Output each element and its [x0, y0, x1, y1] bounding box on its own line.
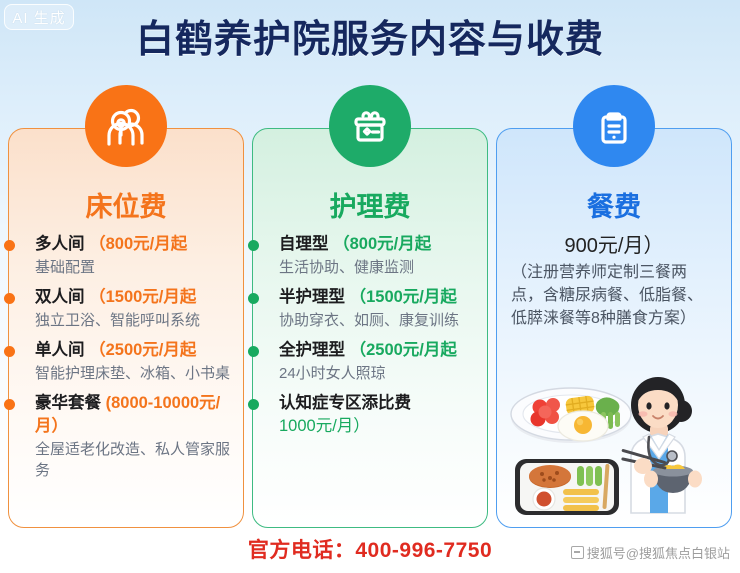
bed-fee-item-list: 多人间 （800元/月起 基础配置 双人间 （1500元/月起 独立卫浴、智能呼… — [21, 233, 231, 481]
watermark: 搜狐号@搜狐焦点白银站 — [571, 543, 730, 562]
item-heading: 自理型 （800元/月起 — [279, 233, 475, 256]
list-item: 自理型 （800元/月起 生活协助、健康监测 — [265, 233, 475, 278]
item-heading: 全护理型 （2500元/月起 — [279, 339, 475, 362]
list-item: 双人间 （1500元/月起 独立卫浴、智能呼叫系统 — [21, 286, 231, 331]
doctor-with-meals-illustration — [503, 371, 717, 521]
item-description: 协助穿衣、如厕、康复训练 — [279, 310, 475, 331]
item-name: 认知症专区添比费 — [279, 394, 411, 412]
meal-note: （注册营养师定制三餐两点，含糖尿病餐、低脂餐、低膵涞餐等8种膳食方案） — [509, 260, 719, 330]
list-item: 全护理型 （2500元/月起 24小时女人照琼 — [265, 339, 475, 384]
item-price: （1500元/月起 — [350, 288, 457, 306]
item-name: 半护理型 — [279, 288, 345, 306]
item-heading: 半护理型 （1500元/月起 — [279, 286, 475, 309]
care-fee-item-list: 自理型 （800元/月起 生活协助、健康监测 半护理型 （1500元/月起 协助… — [265, 233, 475, 437]
card-heading-meal-fee: 餐费 — [509, 191, 719, 223]
item-name: 双人间 — [35, 288, 85, 306]
meal-price: 900元/月） — [509, 233, 719, 260]
page-title: 白鹤养护院服务内容与收费 — [0, 16, 740, 64]
bullet-dot-icon — [4, 346, 15, 357]
item-name: 多人间 — [35, 235, 85, 253]
item-description: 全屋适老化改造、私人管家服务 — [35, 439, 231, 481]
item-price: （2500元/月起 — [350, 341, 457, 359]
item-description: 1000元/月） — [279, 416, 475, 437]
card-heading-care-fee: 护理费 — [265, 191, 475, 223]
item-price: （800元/月起 — [89, 235, 187, 253]
list-item: 豪华套餐 (8000-10000元/月） 全屋适老化改造、私人管家服务 — [21, 392, 231, 481]
list-item: 单人间 （2500元/月起 智能护理床垫、冰箱、小书桌 — [21, 339, 231, 384]
item-description: 独立卫浴、智能呼叫系统 — [35, 310, 231, 331]
bullet-dot-icon — [4, 399, 15, 410]
item-description: 智能护理床垫、冰箱、小书桌 — [35, 363, 231, 384]
bullet-dot-icon — [248, 399, 259, 410]
list-item: 认知症专区添比费 1000元/月） — [265, 392, 475, 437]
bullet-dot-icon — [248, 346, 259, 357]
item-name: 豪华套餐 — [35, 394, 101, 412]
bullet-dot-icon — [248, 240, 259, 251]
item-price: （2500元/月起 — [89, 341, 196, 359]
item-description: 生活协助、健康监测 — [279, 257, 475, 278]
item-price: （800元/月起 — [333, 235, 431, 253]
item-description: 24小时女人照琼 — [279, 363, 475, 384]
pricing-cards-row: 床位费 多人间 （800元/月起 基础配置 双人间 （1500元/月起 — [0, 128, 740, 528]
item-heading: 认知症专区添比费 — [279, 392, 475, 415]
clipboard-icon — [573, 85, 655, 167]
card-care-fee: 护理费 自理型 （800元/月起 生活协助、健康监测 半护理型 （1500元/月… — [252, 128, 488, 528]
card-meal-fee: 餐费 900元/月） （注册营养师定制三餐两点，含糖尿病餐、低脂餐、低膵涞餐等8… — [496, 128, 732, 528]
bullet-dot-icon — [4, 293, 15, 304]
list-item: 半护理型 （1500元/月起 协助穿衣、如厕、康复训练 — [265, 286, 475, 331]
sohu-logo-icon — [571, 546, 584, 559]
card-heading-bed-fee: 床位费 — [21, 191, 231, 223]
item-name: 单人间 — [35, 341, 85, 359]
item-heading: 豪华套餐 (8000-10000元/月） — [35, 392, 231, 438]
medical-kit-icon — [329, 85, 411, 167]
bullet-dot-icon — [248, 293, 259, 304]
card-bed-fee: 床位费 多人间 （800元/月起 基础配置 双人间 （1500元/月起 — [8, 128, 244, 528]
item-heading: 单人间 （2500元/月起 — [35, 339, 231, 362]
users-icon — [85, 85, 167, 167]
list-item: 多人间 （800元/月起 基础配置 — [21, 233, 231, 278]
poster-root: AI 生成 白鹤养护院服务内容与收费 床位费 — [0, 0, 740, 573]
item-price: （1500元/月起 — [89, 288, 196, 306]
item-name: 全护理型 — [279, 341, 345, 359]
item-description: 基础配置 — [35, 257, 231, 278]
bullet-dot-icon — [4, 240, 15, 251]
item-heading: 多人间 （800元/月起 — [35, 233, 231, 256]
item-heading: 双人间 （1500元/月起 — [35, 286, 231, 309]
watermark-label: 搜狐号@搜狐焦点白银站 — [587, 543, 730, 562]
item-name: 自理型 — [279, 235, 329, 253]
